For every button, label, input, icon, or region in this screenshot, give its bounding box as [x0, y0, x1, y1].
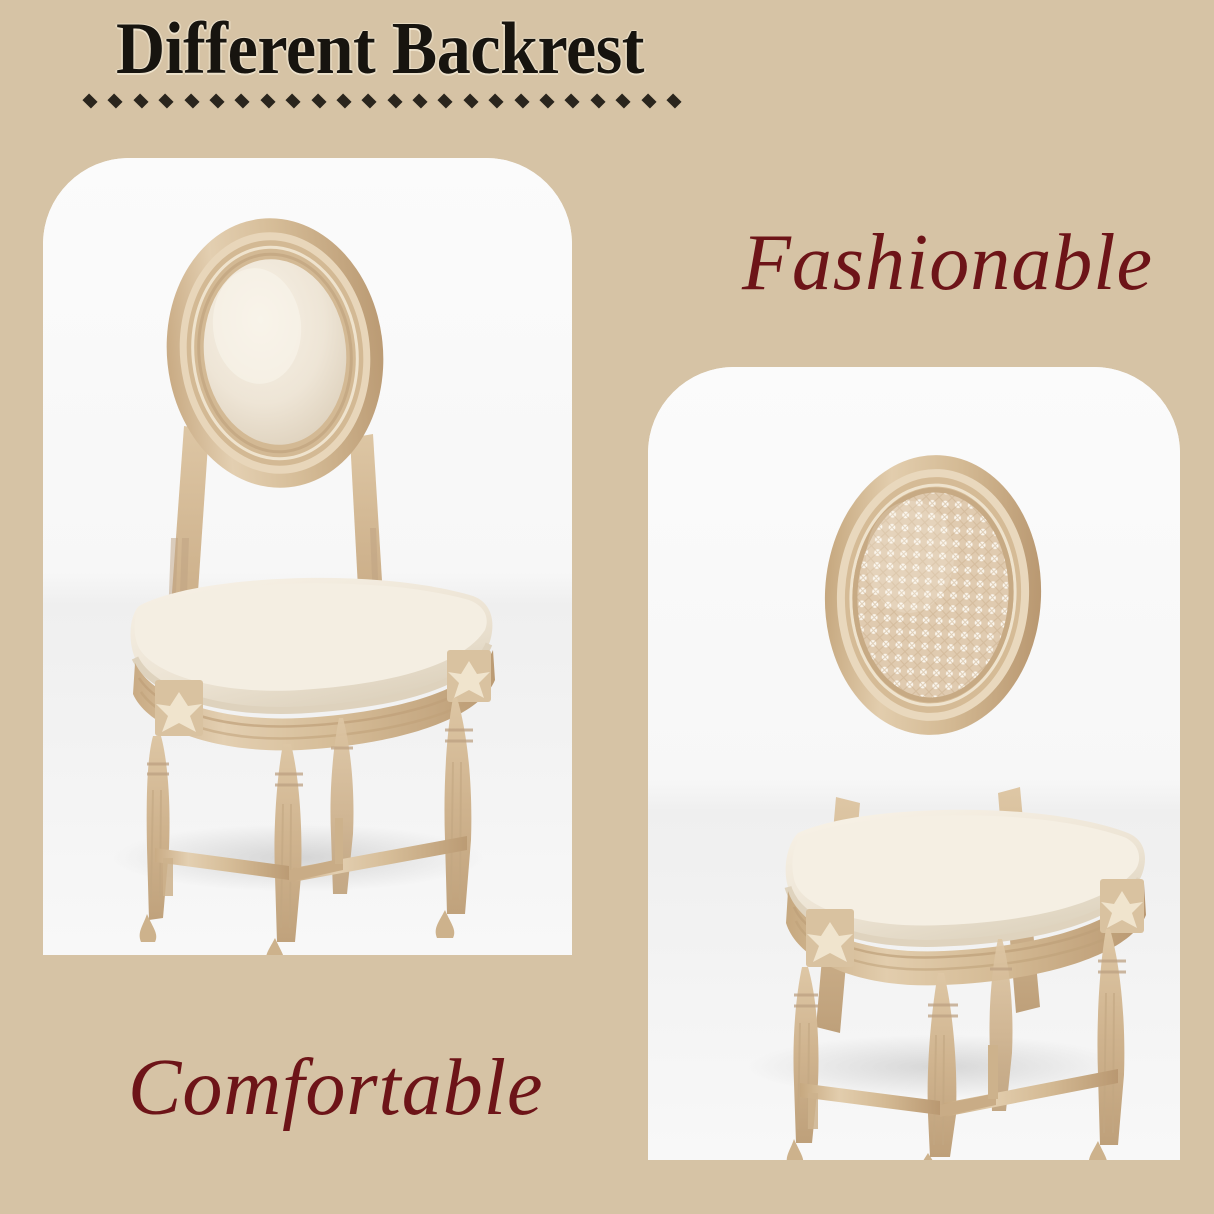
poster-canvas: Different Backrest Fashionable Comfortab…: [0, 0, 1214, 1214]
diamond-icon: [209, 93, 224, 108]
product-photo-rattan: [648, 367, 1180, 1160]
chair-illustration-sponge: [43, 158, 572, 955]
diamond-icon: [641, 93, 656, 108]
label-comfortable: Comfortable: [128, 1043, 543, 1134]
diamond-icon: [235, 93, 250, 108]
diamond-icon: [489, 93, 504, 108]
diamond-icon: [82, 93, 97, 108]
page-title-text: Different Backrest: [30, 12, 729, 86]
diamond-icon: [286, 93, 301, 108]
diamond-icon: [108, 93, 123, 108]
diamond-icon: [413, 93, 428, 108]
diamond-divider: [84, 93, 680, 109]
diamond-icon: [133, 93, 148, 108]
chair-illustration-rattan: [648, 367, 1180, 1160]
diamond-icon: [311, 93, 326, 108]
diamond-icon: [539, 93, 554, 108]
product-photo-panel-sponge[interactable]: Sponge Backrest: [43, 158, 572, 955]
diamond-icon: [590, 93, 605, 108]
diamond-icon: [184, 93, 199, 108]
diamond-icon: [260, 93, 275, 108]
diamond-icon: [463, 93, 478, 108]
diamond-icon: [336, 93, 351, 108]
product-photo-panel-rattan[interactable]: Nature Ratten Backrest: [648, 367, 1180, 1160]
diamond-icon: [438, 93, 453, 108]
diamond-icon: [159, 93, 174, 108]
diamond-icon: [565, 93, 580, 108]
diamond-icon: [387, 93, 402, 108]
product-photo-sponge: [43, 158, 572, 955]
diamond-icon: [666, 93, 681, 108]
page-title: Different Backrest: [0, 12, 760, 86]
diamond-icon: [362, 93, 377, 108]
diamond-icon: [616, 93, 631, 108]
label-fashionable: Fashionable: [742, 218, 1153, 309]
diamond-icon: [514, 93, 529, 108]
